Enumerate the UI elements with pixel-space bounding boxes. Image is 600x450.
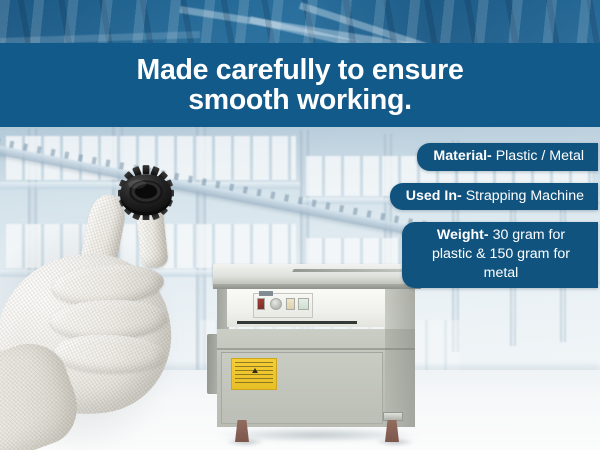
spec-label-material: Material- [433,148,491,164]
spec-badge-material: Material- Plastic / Metal [417,143,598,171]
promo-banner-image: Made carefully to ensure smooth working.… [0,0,600,450]
headline-banner: Made carefully to ensure smooth working. [0,43,600,127]
timer-dial-icon [270,298,282,310]
gloved-hand-holding-gear [0,150,213,450]
mint-button-icon [298,298,309,310]
spec-label-weight: Weight- [437,227,489,243]
strapping-machine-photo [207,260,427,445]
emergency-stop-button-icon [257,298,265,310]
machine-warning-label [231,358,277,390]
spec-badge-weight: Weight- 30 gram for plastic & 150 gram f… [402,222,598,287]
spec-label-used-in: Used In- [406,188,462,204]
spec-badge-used-in: Used In- Strapping Machine [390,183,598,211]
gear-product-icon [112,164,180,220]
machine-brand-logo [259,291,291,296]
spec-badge-list: Material- Plastic / Metal Used In- Strap… [390,143,598,288]
spec-value-material: Plastic / Metal [492,148,584,164]
page-title: Made carefully to ensure smooth working. [137,55,464,115]
cream-button-icon [286,298,295,310]
spec-value-used-in: Strapping Machine [462,188,584,204]
